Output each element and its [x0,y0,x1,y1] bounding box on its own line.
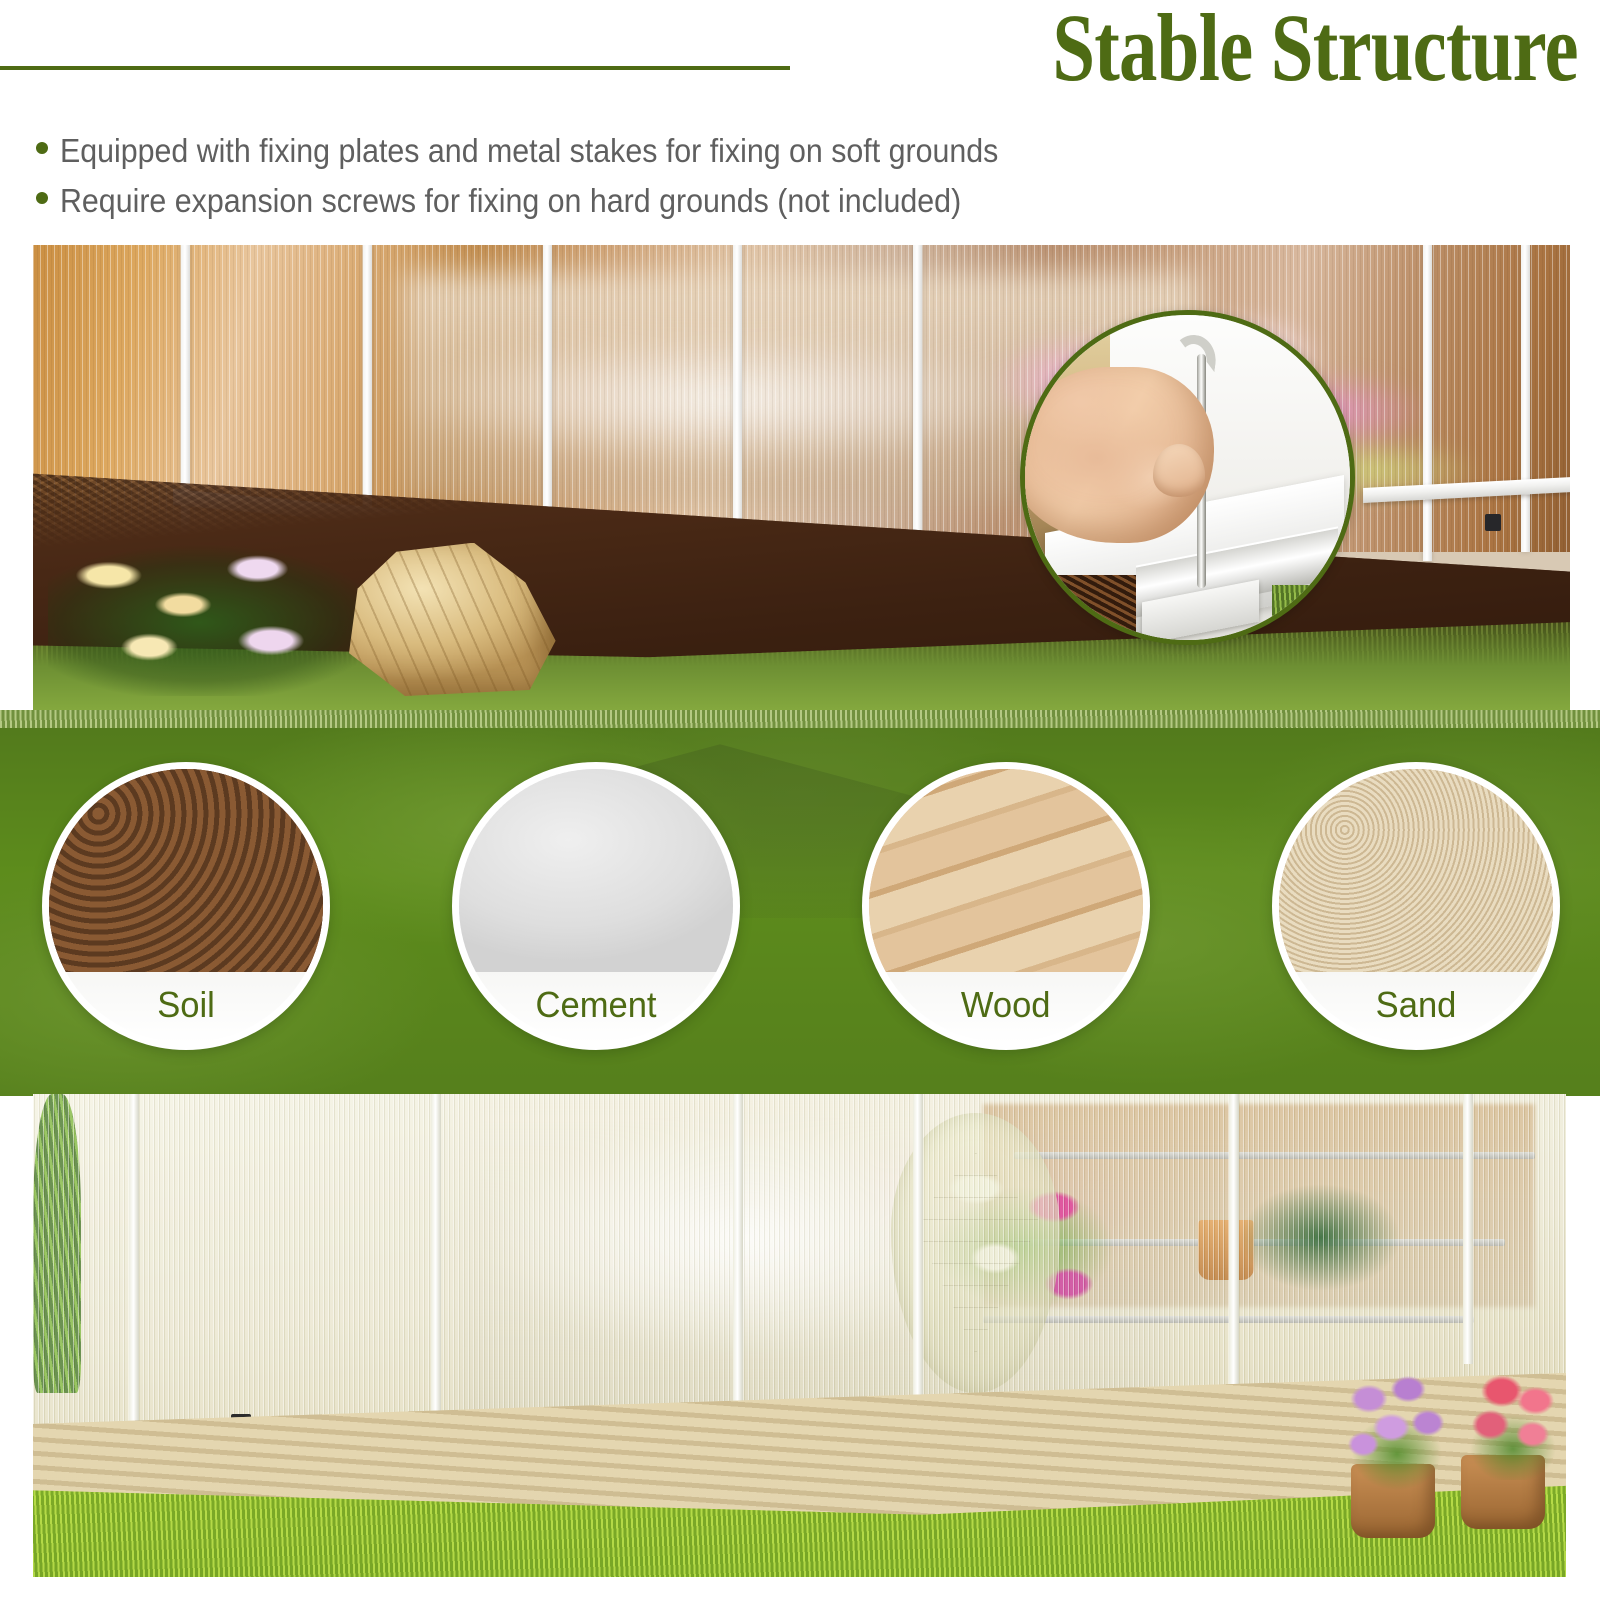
frame-mullion [733,245,742,538]
frame-mullion [363,245,372,515]
hand-holding-stake [1020,367,1214,543]
bullet-dot-icon [36,142,48,154]
ground-type-cement: Cement [452,762,740,1050]
frame-mullion [1521,245,1530,552]
frame-mullion [913,1094,923,1442]
ground-type-label: Wood [961,984,1051,1026]
frame-mullion [913,245,922,552]
cement-texture [459,769,733,972]
bullet-text: Equipped with fixing plates and metal st… [60,130,998,172]
callout-mulch [1025,575,1136,640]
ground-type-label-wrap: Wood [869,972,1143,1043]
ground-type-band: Soil Cement Wood Sand [0,710,1600,1096]
bullet-dot-icon [36,192,48,204]
corner-post [1229,1094,1239,1393]
list-item: Require expansion screws for fixing on h… [36,180,1336,222]
bottom-product-photo [33,1094,1566,1577]
ground-type-label: Cement [535,984,656,1026]
frame-mullion [543,245,552,524]
ground-type-label-wrap: Soil [49,972,323,1043]
stake-detail-callout [1020,310,1355,645]
list-item: Equipped with fixing plates and metal st… [36,130,1336,172]
soil-texture [49,769,323,972]
feature-bullet-list: Equipped with fixing plates and metal st… [36,130,1336,229]
corner-foot-bracket [1485,514,1501,531]
ground-type-label-wrap: Cement [459,972,733,1043]
ground-type-label: Soil [157,984,215,1026]
header-section: Stable Structure Equipped with fixing pl… [0,0,1600,238]
frame-mullion [1463,1094,1473,1364]
pink-flower-cluster [1443,1360,1566,1480]
sand-texture [1279,769,1553,972]
ground-type-soil: Soil [42,762,330,1050]
bullet-text: Require expansion screws for fixing on h… [60,180,961,222]
infographic-page: Stable Structure Equipped with fixing pl… [0,0,1600,1600]
ground-type-label: Sand [1376,984,1457,1026]
ground-type-sand: Sand [1272,762,1560,1050]
callout-grass [1272,585,1350,640]
flower-bed [48,533,386,696]
frame-mullion [1423,245,1432,561]
ground-type-wood: Wood [862,762,1150,1050]
title-divider-rule [0,66,790,70]
band-top-grass-strip [0,710,1600,728]
page-title: Stable Structure [1053,0,1578,102]
ground-type-label-wrap: Sand [1279,972,1553,1043]
wood-texture [869,769,1143,972]
